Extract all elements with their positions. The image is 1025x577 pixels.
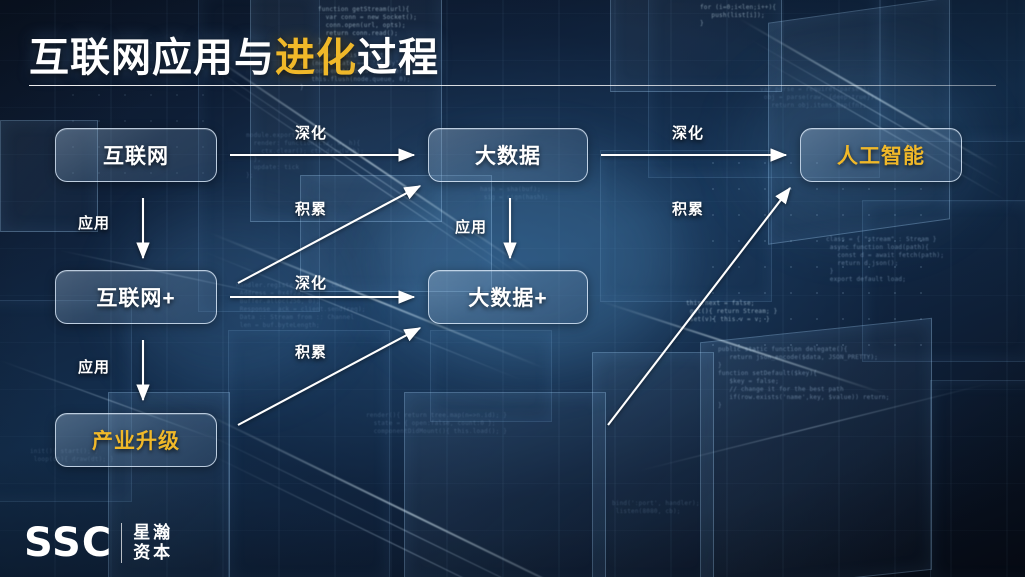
node-industry-upgrade-label: 产业升级 (92, 425, 180, 455)
title-text-part1: 互联网应用与 (29, 36, 275, 80)
edge-label-bigdata-to-ai: 深化 (672, 122, 704, 143)
node-bigdata[interactable]: 大数据 (428, 128, 588, 182)
edge-label-internetplus-to-bigdata: 积累 (295, 198, 327, 219)
node-bigdata-plus-label: 大数据+ (468, 282, 547, 312)
node-industry-upgrade[interactable]: 产业升级 (55, 413, 217, 467)
logo-mark-ssc: SSC (24, 523, 112, 563)
page-title: 互联网应用与进化过程 (29, 25, 439, 83)
title-underline (29, 85, 996, 86)
node-internet-label: 互联网 (103, 140, 169, 170)
node-internet-plus[interactable]: 互联网+ (55, 270, 217, 324)
arrow-industry-to-bigdataplus (238, 328, 420, 425)
node-artificial-intelligence[interactable]: 人工智能 (800, 128, 962, 182)
edge-label-internetplus-to-bigdataplus: 深化 (295, 272, 327, 293)
logo-company-name: 星瀚 资本 (133, 523, 173, 563)
node-artificial-intelligence-label: 人工智能 (837, 140, 925, 170)
brand-logo: SSC 星瀚 资本 (24, 523, 173, 563)
node-internet[interactable]: 互联网 (55, 128, 217, 182)
arrow-bigdataplus-to-ai (608, 188, 790, 425)
edge-label-bigdata-to-bigdataplus: 应用 (455, 216, 487, 237)
title-text-highlight: 进化 (275, 36, 357, 80)
logo-divider (121, 523, 122, 563)
title-text-part2: 过程 (357, 36, 439, 80)
edge-label-internetplus-to-industry: 应用 (78, 356, 110, 377)
node-internet-plus-label: 互联网+ (96, 282, 175, 312)
edge-label-industry-to-bigdataplus: 积累 (295, 341, 327, 362)
node-bigdata-plus[interactable]: 大数据+ (428, 270, 588, 324)
edge-label-internet-to-internetplus: 应用 (78, 212, 110, 233)
edge-label-internet-to-bigdata: 深化 (295, 122, 327, 143)
edge-label-bigdataplus-to-ai: 积累 (672, 198, 704, 219)
arrow-internetplus-to-bigdata (238, 186, 420, 283)
logo-name-line2: 资本 (133, 543, 173, 563)
slide-canvas: function getStream(url){ var conn = new … (0, 0, 1025, 577)
node-bigdata-label: 大数据 (475, 140, 541, 170)
logo-name-line1: 星瀚 (133, 523, 173, 543)
